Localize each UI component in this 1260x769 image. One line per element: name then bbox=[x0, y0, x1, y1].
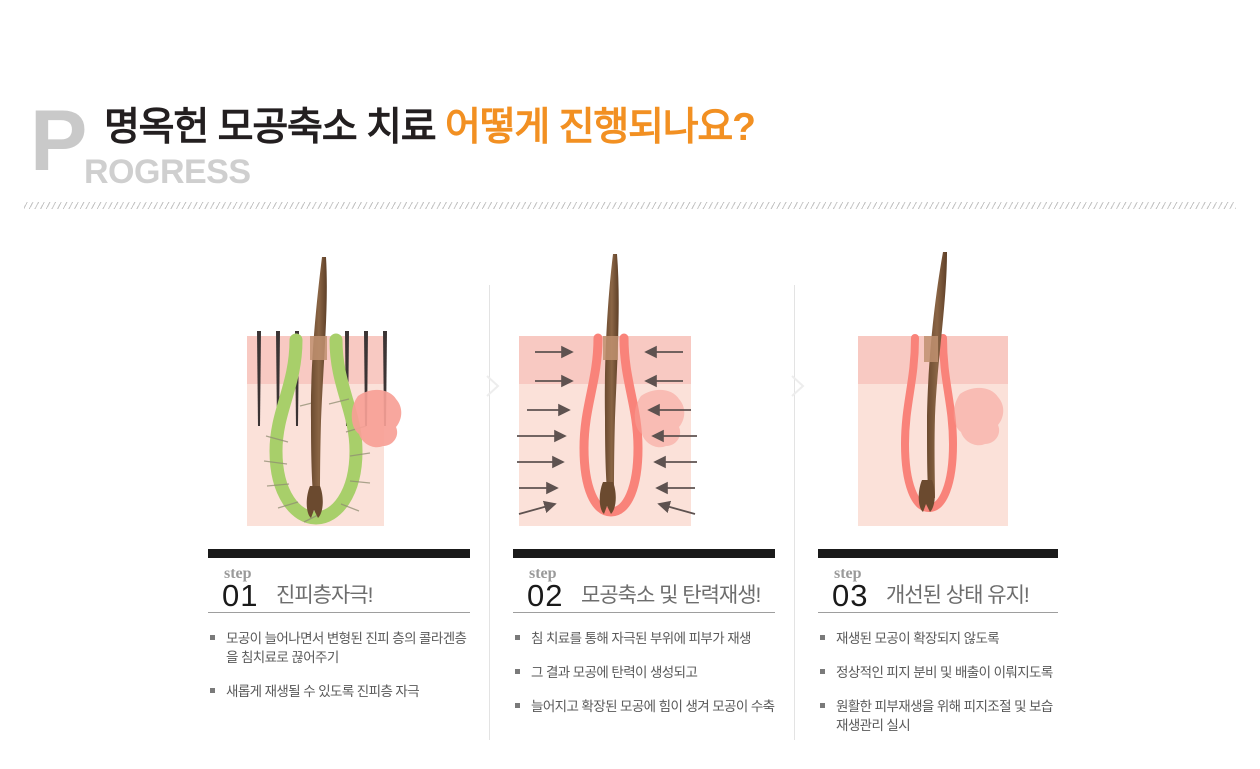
bullet-square-icon bbox=[210, 635, 215, 640]
step-title: 모공축소 및 탄력재생! bbox=[581, 584, 760, 608]
step-number: 03 bbox=[832, 580, 868, 611]
list-item: 모공이 늘어나면서 변형된 진피 층의 콜라겐층을 침치료로 끊어주기 bbox=[208, 629, 470, 667]
step-block-1: step 01 진피층자극! 모공이 늘어나면서 변형된 진피 층의 콜라겐층을… bbox=[208, 549, 470, 716]
bullet-text: 침 치료를 통해 자극된 부위에 피부가 재생 bbox=[531, 631, 751, 646]
step-column-2: step 02 모공축소 및 탄력재생! 침 치료를 통해 자극된 부위에 피부… bbox=[505, 236, 810, 746]
page-title: 명옥헌 모공축소 치료 어떻게 진행되나요? bbox=[104, 104, 755, 152]
bullet-square-icon bbox=[820, 635, 825, 640]
step-header-row: step 03 개선된 상태 유지! bbox=[818, 558, 1058, 612]
bullet-square-icon bbox=[210, 688, 215, 693]
step-column-3: step 03 개선된 상태 유지! 재생된 모공이 확장되지 않도록 정상적인… bbox=[810, 236, 1115, 746]
step-number: 02 bbox=[527, 580, 563, 611]
bullet-square-icon bbox=[820, 703, 825, 708]
step-title: 개선된 상태 유지! bbox=[886, 584, 1029, 608]
progress-logo-word: ROGRESS bbox=[84, 155, 251, 189]
page-title-highlight: 어떻게 진행되나요? bbox=[445, 106, 755, 149]
bullet-text: 재생된 모공이 확장되지 않도록 bbox=[836, 631, 999, 646]
bullet-text: 새롭게 재생될 수 있도록 진피층 자극 bbox=[226, 684, 419, 699]
list-item: 침 치료를 통해 자극된 부위에 피부가 재생 bbox=[513, 629, 775, 648]
step-topbar bbox=[513, 549, 775, 558]
bullet-text: 원활한 피부재생을 위해 피지조절 및 보습재생관리 실시 bbox=[836, 699, 1053, 733]
bullet-text: 늘어지고 확장된 모공에 힘이 생겨 모공이 수축 bbox=[531, 699, 774, 714]
illustration-step-01 bbox=[200, 236, 505, 536]
step-bullet-list: 모공이 늘어나면서 변형된 진피 층의 콜라겐층을 침치료로 끊어주기 새롭게 … bbox=[208, 629, 470, 701]
page-title-main: 명옥헌 모공축소 치료 bbox=[104, 106, 445, 149]
step-bullet-list: 재생된 모공이 확장되지 않도록 정상적인 피지 분비 및 배출이 이뤄지도록 … bbox=[818, 629, 1058, 735]
list-item: 늘어지고 확장된 모공에 힘이 생겨 모공이 수축 bbox=[513, 697, 775, 716]
bullet-text: 그 결과 모공에 탄력이 생성되고 bbox=[531, 665, 697, 680]
step-topbar bbox=[208, 549, 470, 558]
step-number: 01 bbox=[222, 580, 258, 611]
step-block-2: step 02 모공축소 및 탄력재생! 침 치료를 통해 자극된 부위에 피부… bbox=[513, 549, 775, 731]
step-header-row: step 02 모공축소 및 탄력재생! bbox=[513, 558, 775, 612]
bullet-text: 정상적인 피지 분비 및 배출이 이뤄지도록 bbox=[836, 665, 1053, 680]
list-item: 원활한 피부재생을 위해 피지조절 및 보습재생관리 실시 bbox=[818, 697, 1058, 735]
page-header: P ROGRESS 명옥헌 모공축소 치료 어떻게 진행되나요? bbox=[0, 0, 1260, 210]
illustration-step-03 bbox=[810, 236, 1115, 536]
header-dotted-divider bbox=[24, 202, 1236, 209]
step-topbar bbox=[818, 549, 1058, 558]
list-item: 새롭게 재생될 수 있도록 진피층 자극 bbox=[208, 682, 470, 701]
bullet-text: 모공이 늘어나면서 변형된 진피 층의 콜라겐층을 침치료로 끊어주기 bbox=[226, 631, 466, 665]
step-block-3: step 03 개선된 상태 유지! 재생된 모공이 확장되지 않도록 정상적인… bbox=[818, 549, 1058, 750]
step-column-1: step 01 진피층자극! 모공이 늘어나면서 변형된 진피 층의 콜라겐층을… bbox=[200, 236, 505, 746]
step-title: 진피층자극! bbox=[276, 584, 372, 608]
list-item: 정상적인 피지 분비 및 배출이 이뤄지도록 bbox=[818, 663, 1058, 682]
list-item: 그 결과 모공에 탄력이 생성되고 bbox=[513, 663, 775, 682]
list-item: 재생된 모공이 확장되지 않도록 bbox=[818, 629, 1058, 648]
progress-logo-letter: P bbox=[30, 98, 85, 184]
bullet-square-icon bbox=[515, 669, 520, 674]
bullet-square-icon bbox=[820, 669, 825, 674]
bullet-square-icon bbox=[515, 635, 520, 640]
step-header-row: step 01 진피층자극! bbox=[208, 558, 470, 612]
step-bullet-list: 침 치료를 통해 자극된 부위에 피부가 재생 그 결과 모공에 탄력이 생성되… bbox=[513, 629, 775, 716]
illustration-step-02 bbox=[505, 236, 810, 536]
bullet-square-icon bbox=[515, 703, 520, 708]
